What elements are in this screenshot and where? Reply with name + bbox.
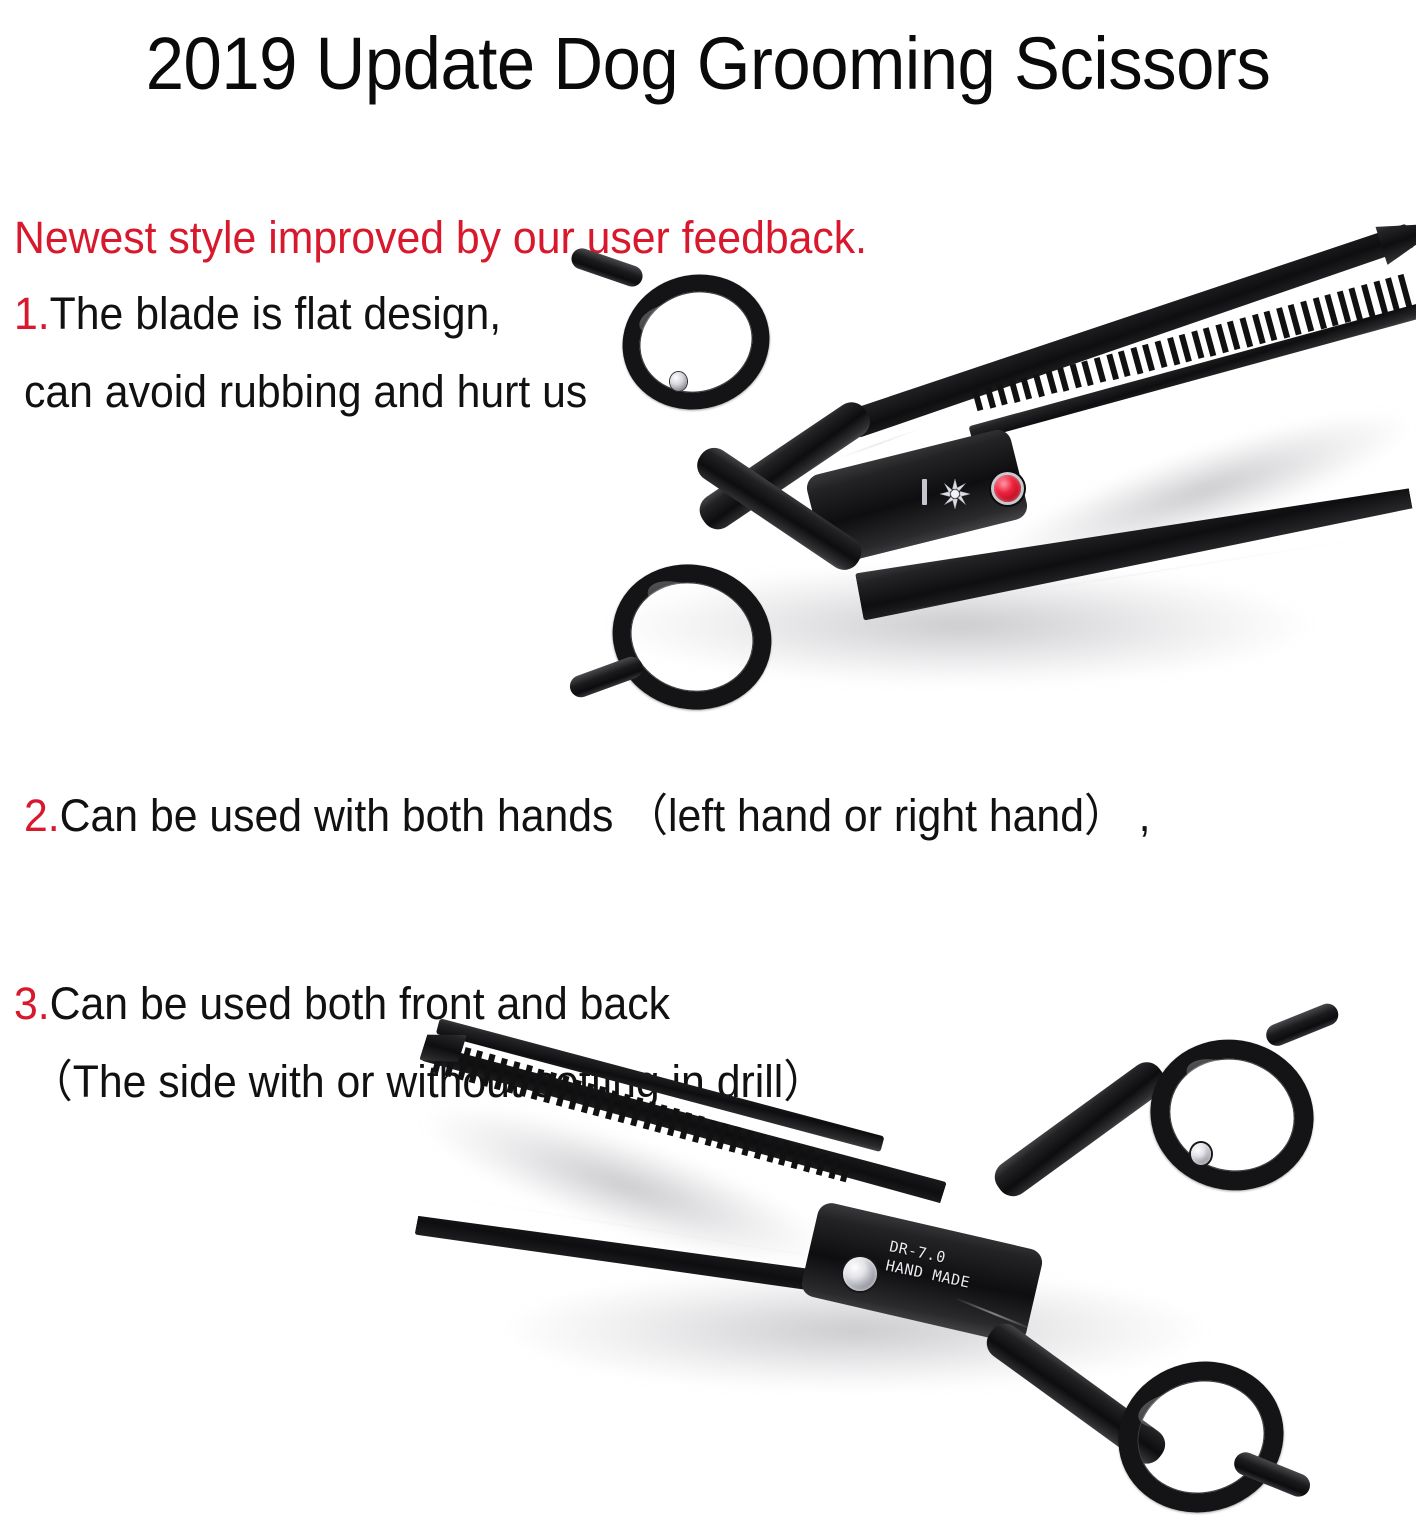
tagline-text: Newest style improved by our user feedba… <box>14 210 867 266</box>
handle-arm-upper-2 <box>988 1056 1171 1203</box>
finger-tang-lower <box>567 654 646 701</box>
feature-1-text: The blade is flat design, <box>50 288 502 339</box>
scissors-image-bottom: DR-7.0 HAND MADE <box>385 1010 1416 1500</box>
page-title: 2019 Update Dog Grooming Scissors <box>50 22 1367 106</box>
feature-2-text: Can be used with both hands （left hand o… <box>60 790 1151 841</box>
tension-screw-upper-2 <box>1191 1143 1211 1165</box>
scissors-image-top <box>560 265 1416 720</box>
ruby-gem-icon <box>994 475 1021 502</box>
crystal-gem-icon <box>843 1257 877 1291</box>
feature-1-line-1: 1.The blade is flat design, <box>14 285 501 343</box>
flower-ornament-icon <box>938 477 972 511</box>
finger-ring-upper-2 <box>1134 1022 1329 1207</box>
feature-3-number: 3. <box>14 978 50 1029</box>
feature-2-number: 2. <box>24 790 60 841</box>
finger-tang-upper-2 <box>1263 1000 1342 1049</box>
pivot-area-2: DR-7.0 HAND MADE <box>785 1185 1065 1355</box>
feature-2-line-1: 2.Can be used with both hands （left hand… <box>24 787 1150 845</box>
product-infographic-canvas: 2019 Update Dog Grooming Scissors Newest… <box>0 0 1416 1500</box>
feature-1-line-2: can avoid rubbing and hurt us <box>24 363 587 421</box>
brand-mark-icon <box>922 479 927 505</box>
feature-1-number: 1. <box>14 288 50 339</box>
tension-screw-upper <box>670 372 687 391</box>
